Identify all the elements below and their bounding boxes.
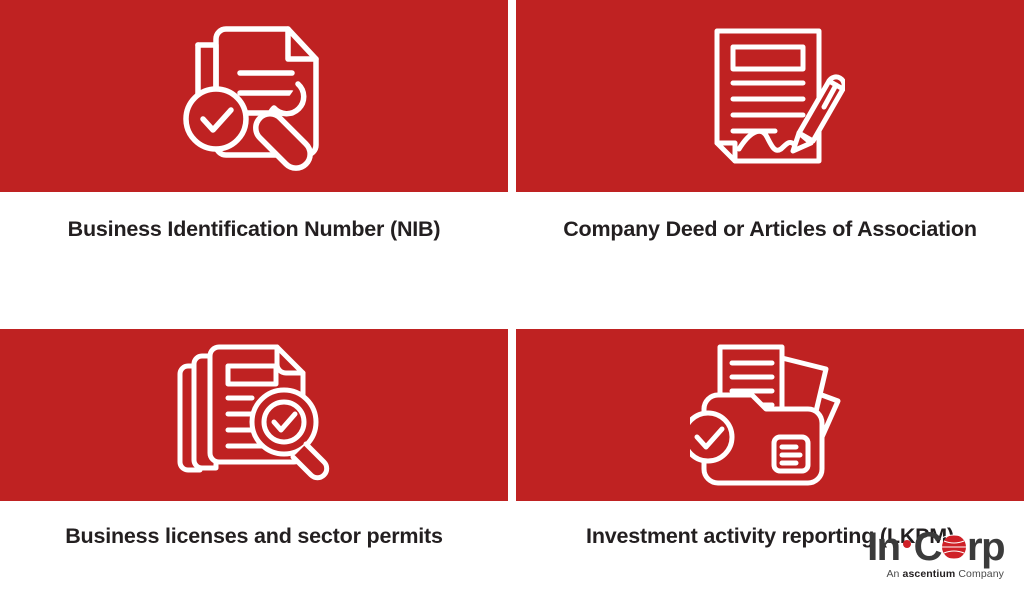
- icon-panel-deed: [516, 0, 1024, 192]
- logo-word-c: C: [914, 527, 941, 567]
- documents-with-magnifier-check-icon: [169, 335, 339, 495]
- card-lkpm: Investment activity reporting (LKPM): [516, 329, 1024, 548]
- folder-with-documents-and-check-icon: [685, 335, 855, 495]
- tagline-prefix: An: [886, 568, 902, 580]
- logo-dot-icon: [903, 540, 911, 548]
- logo-word-rp: rp: [967, 527, 1004, 567]
- tagline-suffix: Company: [955, 568, 1004, 580]
- icon-panel-licenses: [0, 329, 508, 501]
- icon-panel-nib: [0, 0, 508, 192]
- card-licenses: Business licenses and sector permits: [0, 329, 508, 548]
- card-deed: Company Deed or Articles of Association: [516, 0, 1024, 241]
- icon-panel-lkpm: [516, 329, 1024, 501]
- logo-tagline: An ascentium Company: [844, 568, 1004, 580]
- infographic-board: Business Identification Number (NIB): [0, 0, 1024, 592]
- document-with-check-and-stamp-icon: [169, 16, 339, 176]
- card-nib: Business Identification Number (NIB): [0, 0, 508, 241]
- card-caption-licenses: Business licenses and sector permits: [0, 501, 508, 548]
- globe-icon: [941, 534, 967, 560]
- signed-document-with-pen-icon: [685, 16, 855, 176]
- card-caption-deed: Company Deed or Articles of Association: [516, 192, 1024, 241]
- logo-word-in: In: [867, 527, 900, 567]
- incorp-logo: In C rp An ascentium Company: [844, 527, 1004, 580]
- card-caption-nib: Business Identification Number (NIB): [0, 192, 508, 241]
- tagline-brand: ascentium: [903, 568, 956, 580]
- card-grid: Business Identification Number (NIB): [0, 0, 1024, 547]
- logo-wordmark: In C rp: [844, 527, 1004, 567]
